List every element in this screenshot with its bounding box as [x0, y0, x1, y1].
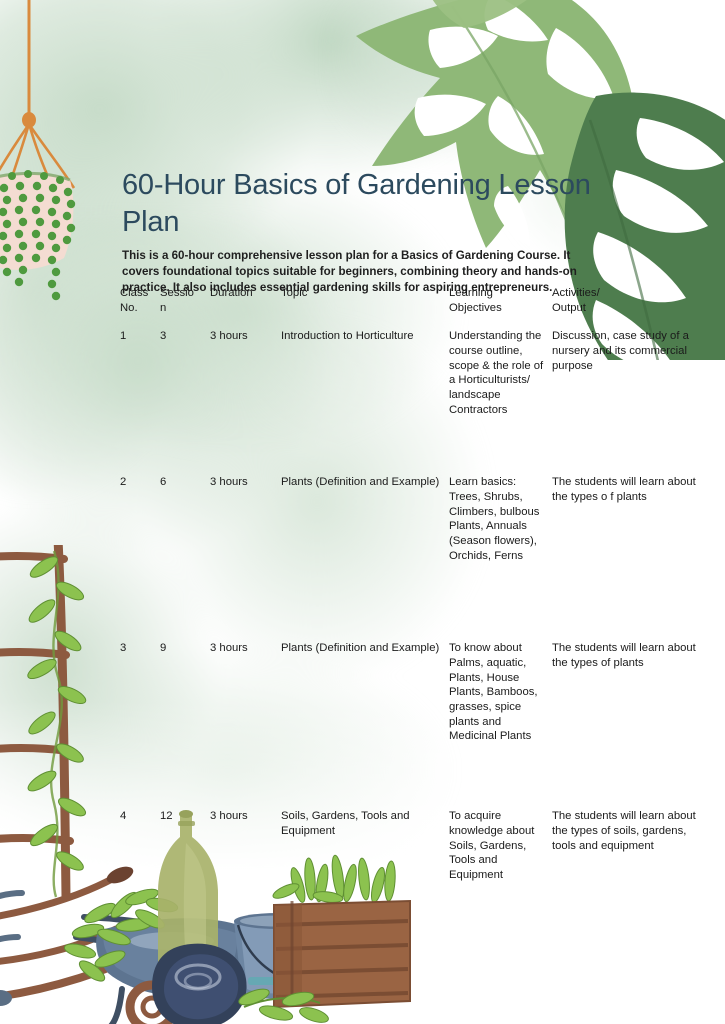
cell-duration: 3 hours — [210, 809, 281, 937]
cell-activities: Discussion, case study of a nursery and … — [552, 329, 716, 475]
cell-activities: The students will learn about the types … — [552, 475, 716, 641]
column-header-topic: Topic — [281, 286, 449, 329]
cell-duration: 3 hours — [210, 641, 281, 809]
column-header-activities: Activities/ Output — [552, 286, 716, 329]
cell-topic: Plants (Definition and Example) — [281, 641, 449, 809]
cell-duration: 3 hours — [210, 329, 281, 475]
cell-topic: Introduction to Horticulture — [281, 329, 449, 475]
cell-class-no: 3 — [120, 641, 160, 809]
lesson-plan-table: Class No. Sessio n Duration Topic Learni… — [120, 286, 716, 937]
cell-session: 6 — [160, 475, 210, 641]
cell-objectives: Understanding the course outline, scope … — [449, 329, 552, 475]
cell-session: 9 — [160, 641, 210, 809]
cell-activities: The students will learn about the types … — [552, 641, 716, 809]
cell-class-no: 2 — [120, 475, 160, 641]
column-header-class-no: Class No. — [120, 286, 160, 329]
table-row: 4 12 3 hours Soils, Gardens, Tools and E… — [120, 809, 716, 937]
column-header-session: Sessio n — [160, 286, 210, 329]
cell-topic: Soils, Gardens, Tools and Equipment — [281, 809, 449, 937]
cell-session: 12 — [160, 809, 210, 937]
cell-objectives: To know about Palms, aquatic, Plants, Ho… — [449, 641, 552, 809]
cell-objectives: Learn basics: Trees, Shrubs, Climbers, b… — [449, 475, 552, 641]
document-content: 60-Hour Basics of Gardening Lesson Plan … — [0, 0, 725, 1024]
cell-activities: The students will learn about the types … — [552, 809, 716, 937]
table-header-row: Class No. Sessio n Duration Topic Learni… — [120, 286, 716, 329]
table-row: 3 9 3 hours Plants (Definition and Examp… — [120, 641, 716, 809]
column-header-objectives: Learning Objectives — [449, 286, 552, 329]
cell-topic: Plants (Definition and Example) — [281, 475, 449, 641]
lesson-plan-page: 60-Hour Basics of Gardening Lesson Plan … — [0, 0, 725, 1024]
table-row: 1 3 3 hours Introduction to Horticulture… — [120, 329, 716, 475]
cell-class-no: 1 — [120, 329, 160, 475]
cell-class-no: 4 — [120, 809, 160, 937]
column-header-duration: Duration — [210, 286, 281, 329]
cell-session: 3 — [160, 329, 210, 475]
page-title: 60-Hour Basics of Gardening Lesson Plan — [122, 167, 592, 240]
table-row: 2 6 3 hours Plants (Definition and Examp… — [120, 475, 716, 641]
cell-objectives: To acquire knowledge about Soils, Garden… — [449, 809, 552, 937]
cell-duration: 3 hours — [210, 475, 281, 641]
